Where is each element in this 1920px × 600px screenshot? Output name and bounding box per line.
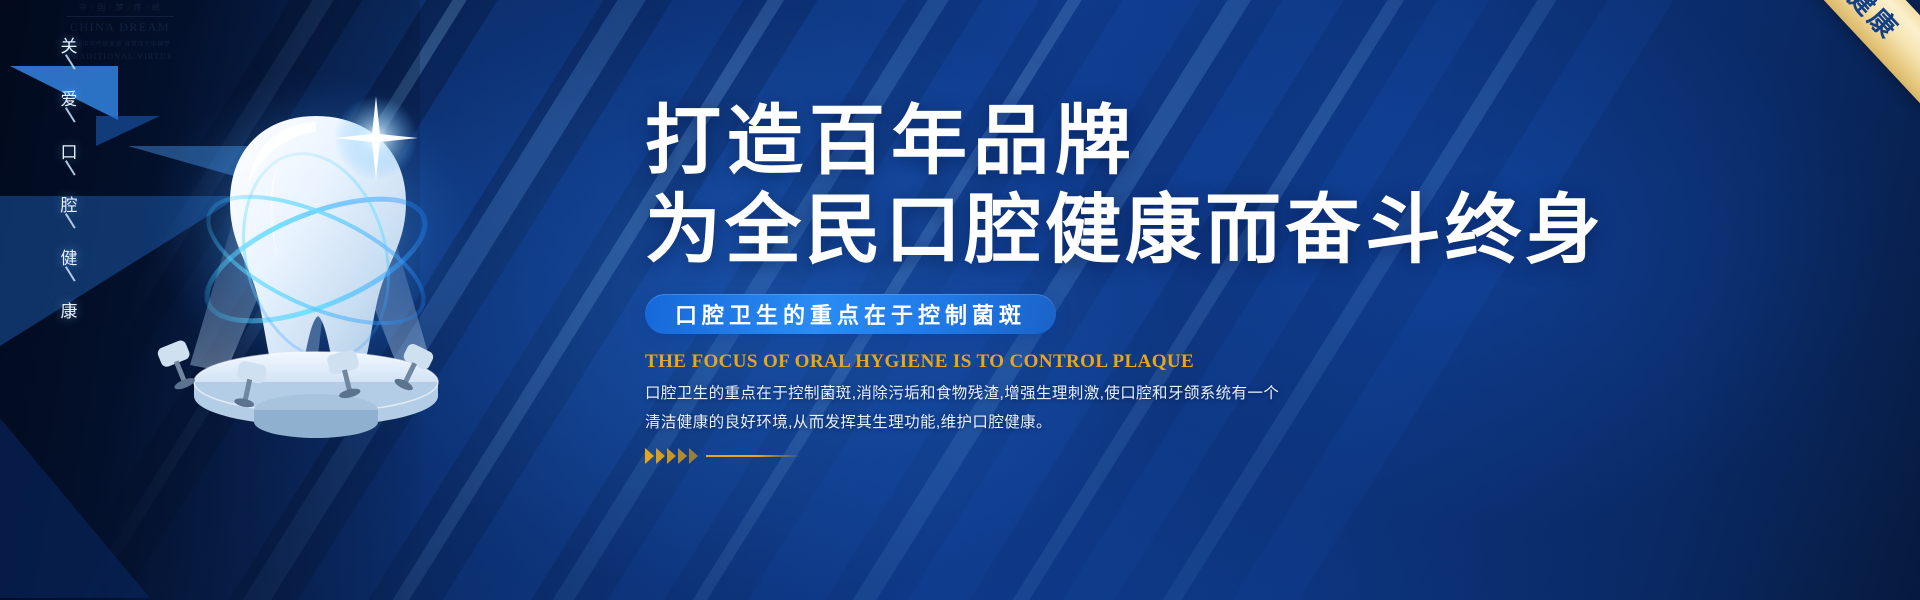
vertical-slogan-char-0: 关 [61,32,78,57]
watermark-rule-top [66,16,174,17]
slash-separator-icon [59,163,79,189]
vertical-slogan-char-4: 健 [61,244,78,269]
headline-line-1: 打造百年品牌 [645,96,1825,188]
chevron-right-icon [689,448,698,464]
sparkle-icon [334,96,418,180]
chevron-right-icon [678,448,687,464]
highlight-pill[interactable]: 口腔卫生的重点在于控制菌斑 [645,294,1056,334]
watermark-line1: 中 / 国 / 梦 / 传 / 统 [60,2,180,13]
vertical-slogan-char-3: 腔 [61,191,78,216]
content-column: 打造百年品牌 为全民口腔健康而奋斗终身 口腔卫生的重点在于控制菌斑 THE FO… [645,96,1825,464]
vertical-slogan-char-1: 爱 [61,85,78,110]
slash-separator-icon [59,269,79,295]
body-paragraph-line-2: 清洁健康的良好环境,从而发挥其生理功能,维护口腔健康。 [645,410,1825,435]
pedestal [194,352,438,438]
tooth-illustration [130,60,510,450]
triangle-decoration-5 [0,418,150,598]
english-subtitle: THE FOCUS OF ORAL HYGIENE IS TO CONTROL … [645,351,1825,373]
vertical-slogan-char-2: 口 [61,138,78,163]
chevron-right-icon [656,448,665,464]
highlight-pill-label: 口腔卫生的重点在于控制菌斑 [675,298,1026,330]
slash-separator-icon [59,57,79,83]
slash-separator-icon [59,216,79,242]
vertical-slogan: 关 爱 口 腔 健 康 [47,30,91,322]
body-paragraph-line-1: 口腔卫生的重点在于控制菌斑,消除污垢和食物残渣,增强生理刺激,使口腔和牙颌系统有… [645,381,1825,406]
headline-line-2: 为全民口腔健康而奋斗终身 [645,184,1825,278]
vertical-slogan-char-5: 康 [61,297,78,322]
chevron-right-icon [667,448,676,464]
banner-root: 中 / 国 / 梦 / 传 / 统 CHINA DREAM 弘扬中华传统美德 共… [0,0,1920,600]
chevron-arrows-decoration [645,448,1825,464]
slash-separator-icon [59,110,79,136]
accent-rule [706,455,801,457]
chevron-right-icon [645,448,654,464]
